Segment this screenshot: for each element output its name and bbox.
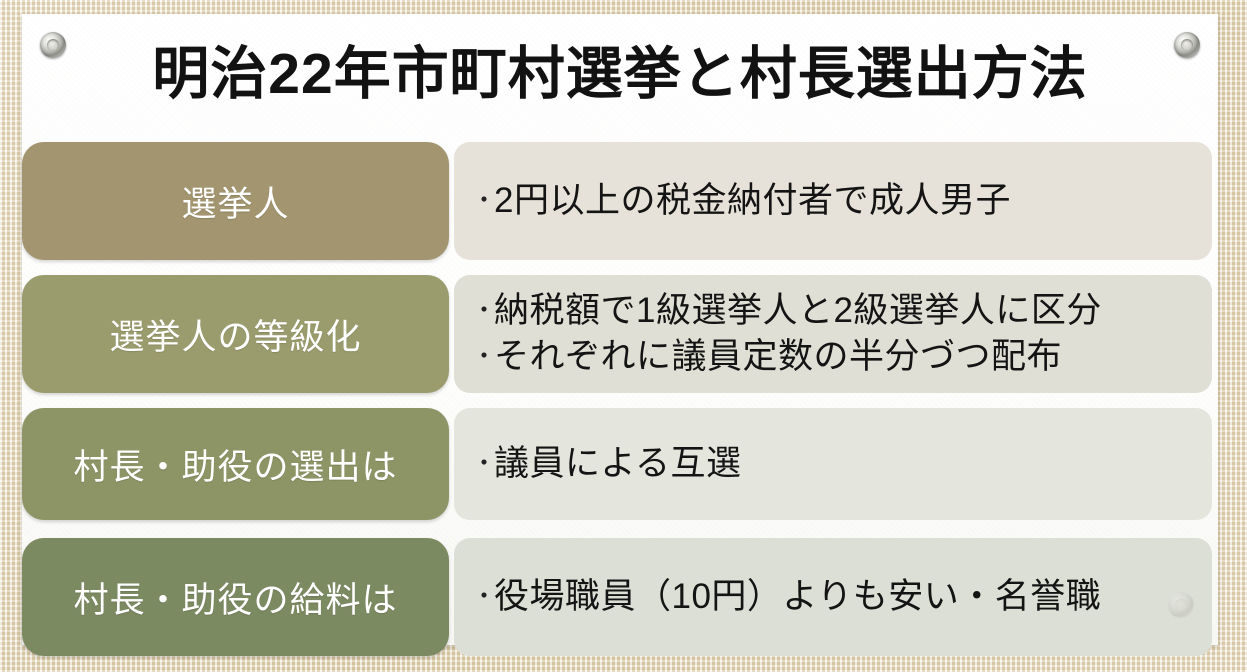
bullet-icon: ・ (472, 341, 494, 373)
list-item: ・ 役場職員（10円）よりも安い・名誉職 (472, 574, 1212, 620)
page-title: 明治22年市町村選挙と村長選出方法 (22, 28, 1218, 110)
grommet-top-left-icon (40, 32, 66, 58)
list-item-text: 納税額で1級選挙人と2級選挙人に区分 (494, 288, 1102, 334)
list-item: ・ 納税額で1級選挙人と2級選挙人に区分 (472, 288, 1212, 334)
slide-root: 明治22年市町村選挙と村長選出方法 選挙人 ・ 2円以上の税金納付者で成人男子 … (0, 0, 1247, 672)
bullet-icon: ・ (472, 581, 494, 613)
board-panel: 明治22年市町村選挙と村長選出方法 選挙人 ・ 2円以上の税金納付者で成人男子 … (22, 14, 1218, 645)
list-item: ・ 2円以上の税金納付者で成人男子 (472, 178, 1212, 224)
grommet-top-right-icon (1174, 32, 1200, 58)
list-item: ・ 議員による互選 (472, 441, 1212, 487)
bullet-icon: ・ (472, 185, 494, 217)
row-label-mayor-salary: 村長・助役の給料は (22, 538, 449, 656)
list-item-text: 議員による互選 (494, 441, 741, 487)
row-content-mayor-salary: ・ 役場職員（10円）よりも安い・名誉職 (454, 538, 1212, 656)
list-item-text: 2円以上の税金納付者で成人男子 (494, 178, 1011, 224)
grommet-bottom-right-icon (1168, 592, 1194, 618)
list-item-text: それぞれに議員定数の半分づつ配布 (494, 334, 1062, 380)
row-label-selector: 選挙人 (22, 142, 449, 260)
bullet-icon: ・ (472, 295, 494, 327)
row-content-voter-classes: ・ 納税額で1級選挙人と2級選挙人に区分 ・ それぞれに議員定数の半分づつ配布 (454, 275, 1212, 393)
row-label-voter-classes: 選挙人の等級化 (22, 275, 449, 393)
row-label-mayor-selection: 村長・助役の選出は (22, 408, 449, 520)
list-item-text: 役場職員（10円）よりも安い・名誉職 (494, 574, 1101, 620)
list-item: ・ それぞれに議員定数の半分づつ配布 (472, 334, 1212, 380)
row-content-selector: ・ 2円以上の税金納付者で成人男子 (454, 142, 1212, 260)
row-content-mayor-selection: ・ 議員による互選 (454, 408, 1212, 520)
bullet-icon: ・ (472, 448, 494, 480)
